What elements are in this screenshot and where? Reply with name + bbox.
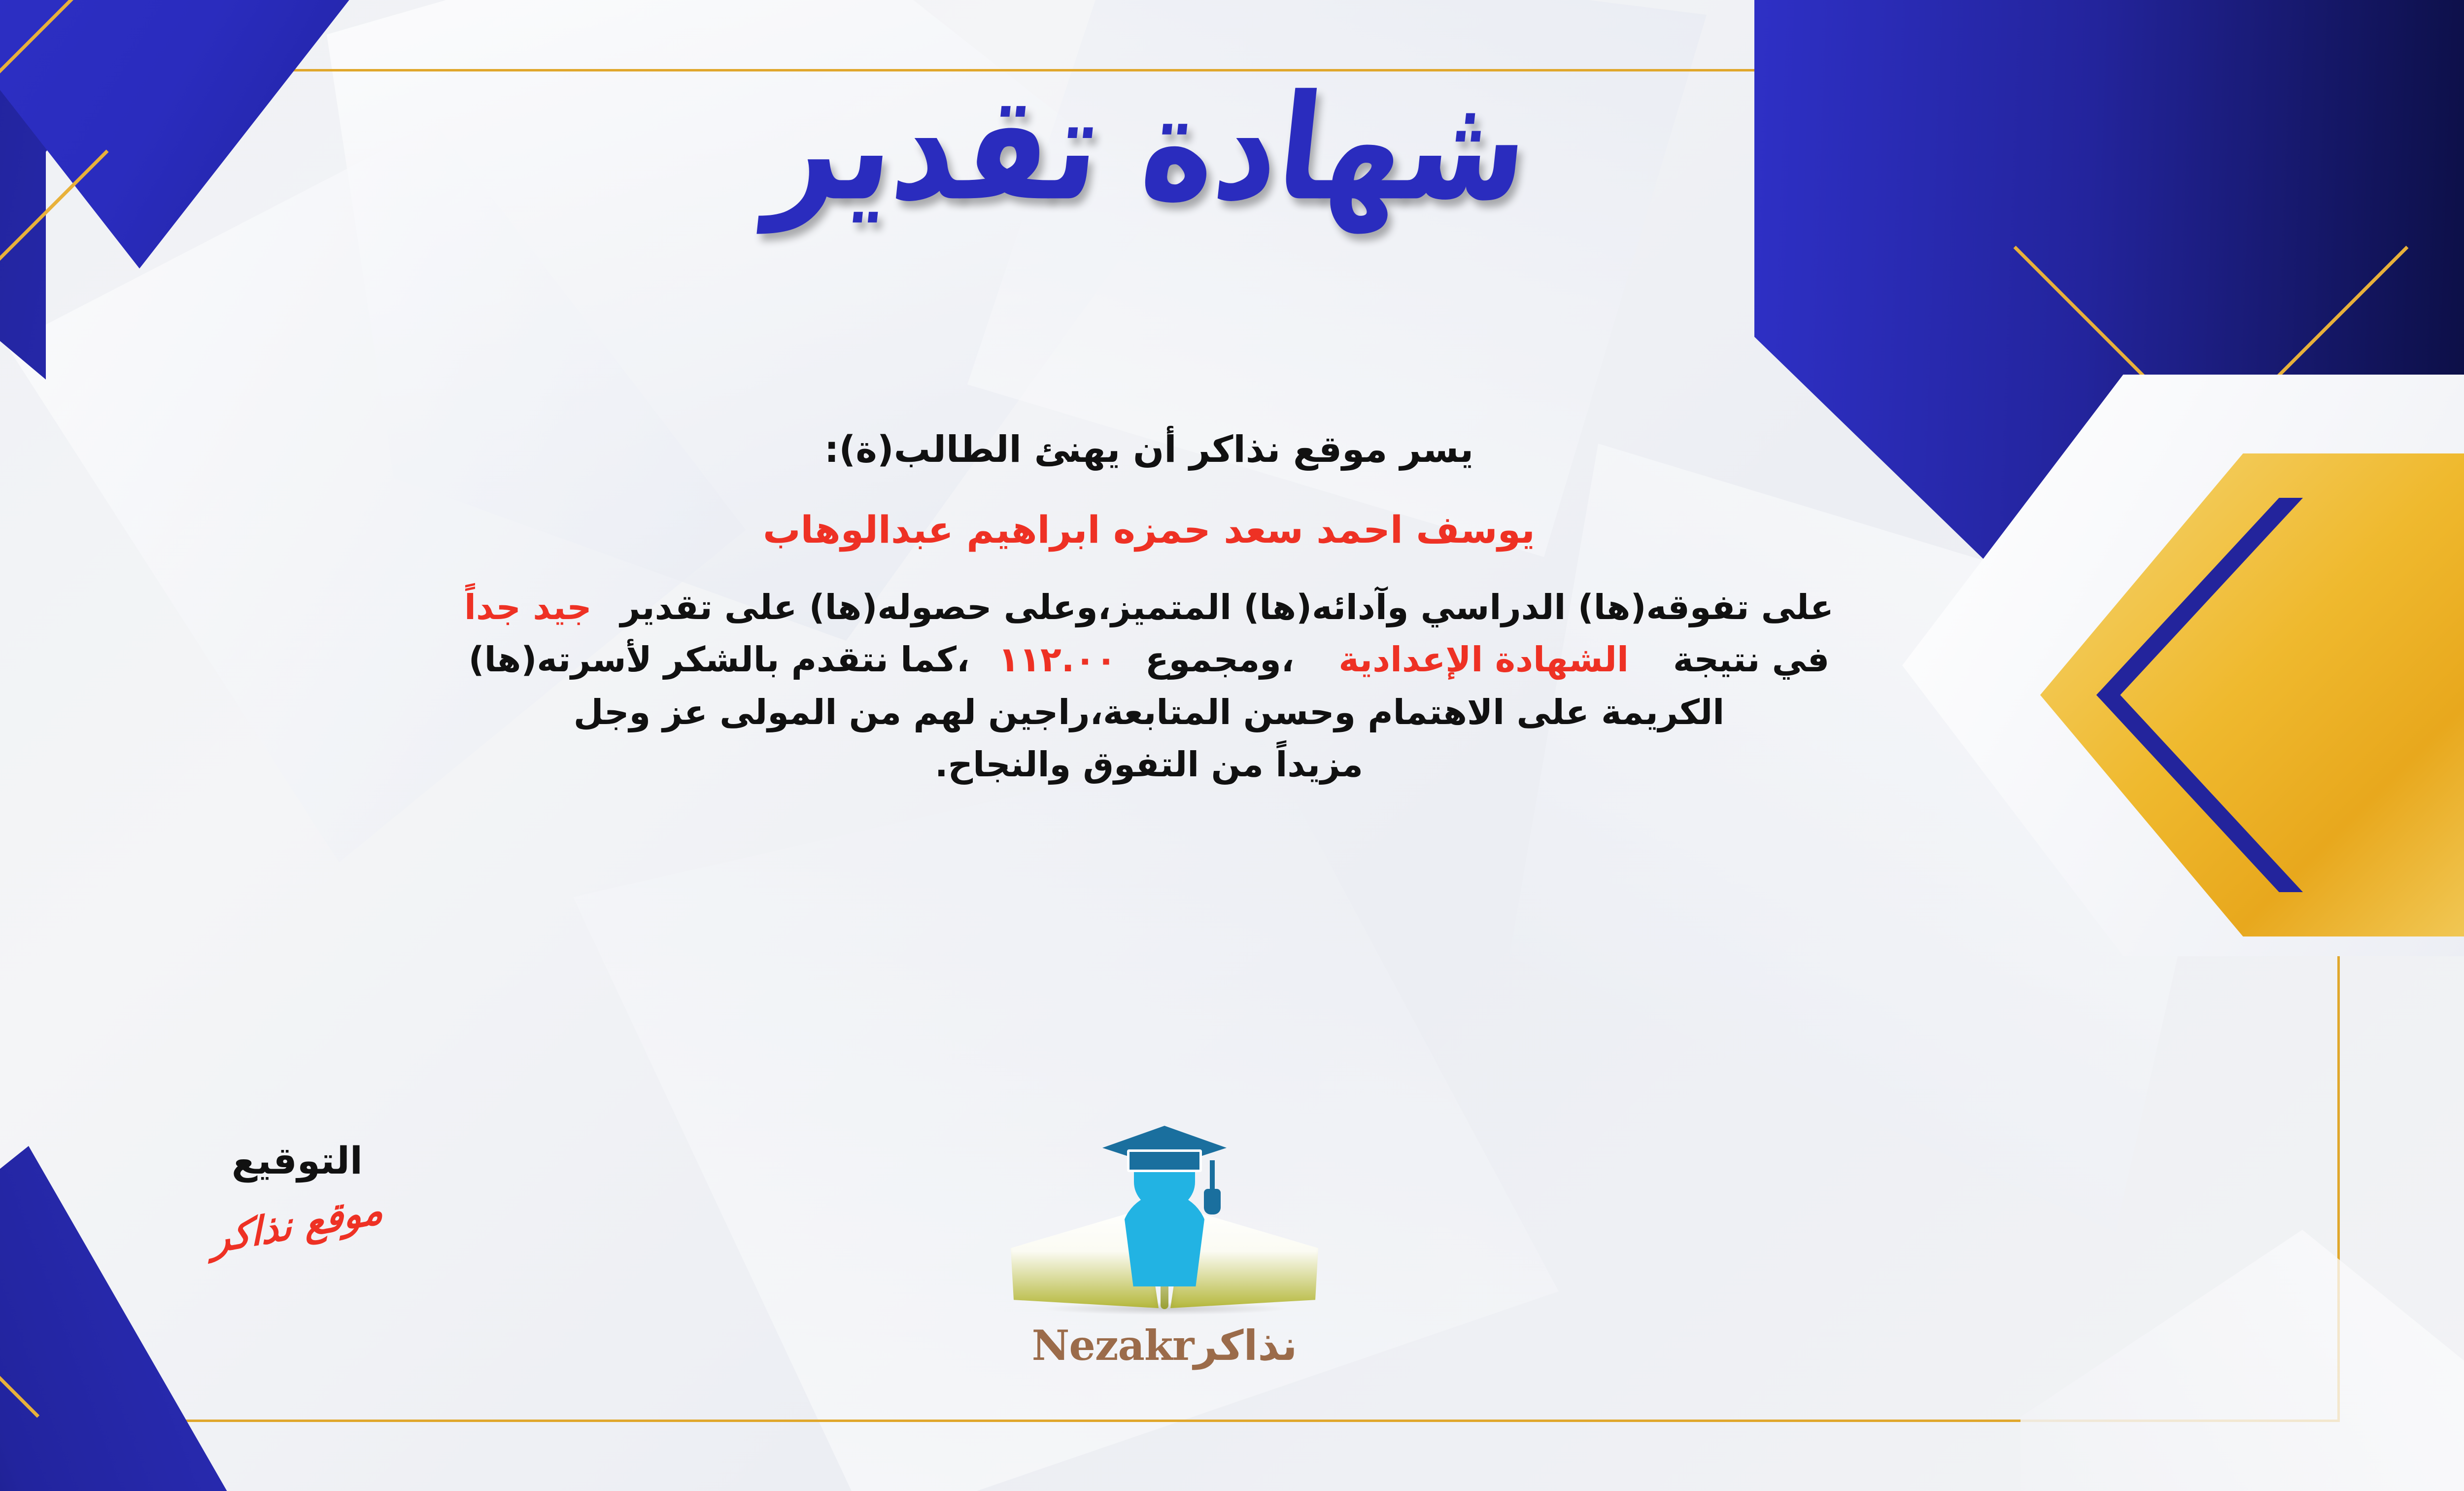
total-label-text: ،ومجموع: [1145, 639, 1295, 680]
total-score-value: ١١٢.٠٠: [998, 639, 1117, 680]
certificate-title: شهادة تقدير: [763, 72, 1536, 225]
achievement-line-6-text: مزيداً من التفوق والنجاح.: [935, 744, 1363, 785]
exam-name: الشهادة الإعدادية: [1338, 639, 1629, 680]
achievement-line-3-text: على تفوقه(ها) الدراسي وآدائه(ها) المتميز…: [620, 587, 1834, 627]
result-prefix-text: في نتيجة: [1673, 639, 1829, 680]
graduation-tassel-end-icon: [1204, 1189, 1221, 1214]
signature-label: التوقيع: [110, 1139, 484, 1182]
graduation-cap-band-icon: [1127, 1149, 1202, 1172]
brand-logo: Nezakrنذاكر: [997, 1129, 1332, 1370]
grade-value: جيد جداً: [464, 587, 592, 627]
certificate-title-area: شهادة تقدير: [0, 84, 2464, 213]
certificate-page: شهادة تقدير يسر موقع نذاكر أن يهنئ الطال…: [0, 0, 2464, 1491]
brand-name-en: Nezakr: [1032, 1321, 1194, 1370]
intro-line: يسر موقع نذاكر أن يهنئ الطالب(ة):: [0, 424, 2306, 476]
family-thanks-text: ،كما نتقدم بالشكر لأسرته(ها): [469, 639, 970, 680]
achievement-paragraph: على تفوقه(ها) الدراسي وآدائه(ها) المتميز…: [0, 581, 2306, 791]
graduate-book-logo-icon: [1007, 1129, 1322, 1316]
signature-area: التوقيع موقع نذاكر: [110, 1139, 484, 1247]
achievement-line-5-text: الكريمة على الاهتمام وحسن المتابعة،راجين…: [574, 692, 1725, 732]
brand-logo-text: Nezakrنذاكر: [997, 1321, 1332, 1370]
brand-name-ar: نذاكر: [1194, 1321, 1297, 1370]
student-name: يوسف احمد سعد حمزه ابراهيم عبدالوهاب: [0, 503, 2306, 556]
certificate-body: يسر موقع نذاكر أن يهنئ الطالب(ة): يوسف ا…: [0, 424, 2306, 791]
